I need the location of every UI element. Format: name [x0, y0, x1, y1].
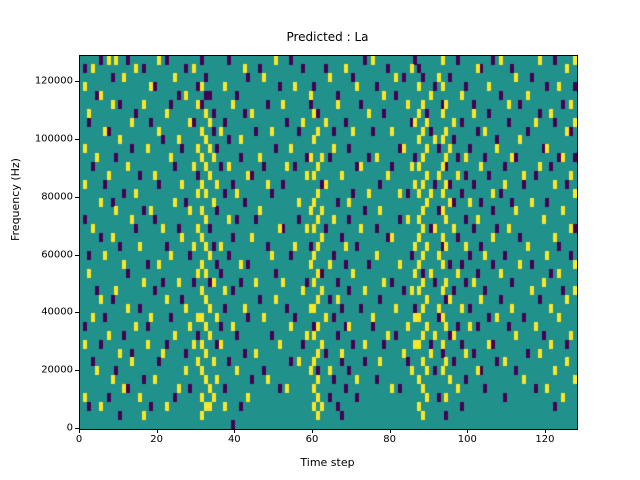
y-tick-label: 100000: [0, 133, 73, 144]
matplotlib-figure: Predicted : La Frequency (Hz) Time step …: [0, 0, 640, 480]
x-tick-label: 60: [306, 434, 319, 445]
y-tick-mark: [75, 81, 79, 82]
x-tick-label: 0: [76, 434, 82, 445]
x-tick-mark: [157, 429, 158, 433]
x-tick-mark: [467, 429, 468, 433]
y-tick-label: 60000: [0, 249, 73, 260]
chart-title: Predicted : La: [79, 30, 576, 44]
y-tick-label: 0: [0, 423, 73, 434]
x-tick-label: 120: [535, 434, 554, 445]
y-tick-mark: [75, 197, 79, 198]
x-axis-label: Time step: [79, 456, 576, 469]
y-tick-label: 80000: [0, 191, 73, 202]
x-tick-label: 100: [458, 434, 477, 445]
heatmap-axes: [79, 55, 578, 430]
x-tick-label: 40: [228, 434, 241, 445]
x-tick-mark: [79, 429, 80, 433]
x-tick-mark: [312, 429, 313, 433]
x-tick-mark: [234, 429, 235, 433]
y-tick-mark: [75, 312, 79, 313]
y-tick-mark: [75, 139, 79, 140]
y-tick-mark: [75, 255, 79, 256]
x-tick-label: 80: [383, 434, 396, 445]
y-tick-label: 20000: [0, 365, 73, 376]
x-tick-mark: [545, 429, 546, 433]
x-tick-mark: [390, 429, 391, 433]
y-tick-label: 40000: [0, 307, 73, 318]
y-tick-mark: [75, 370, 79, 371]
x-tick-label: 20: [150, 434, 163, 445]
y-tick-mark: [75, 428, 79, 429]
y-tick-label: 120000: [0, 76, 73, 87]
heatmap-image: [80, 56, 577, 429]
